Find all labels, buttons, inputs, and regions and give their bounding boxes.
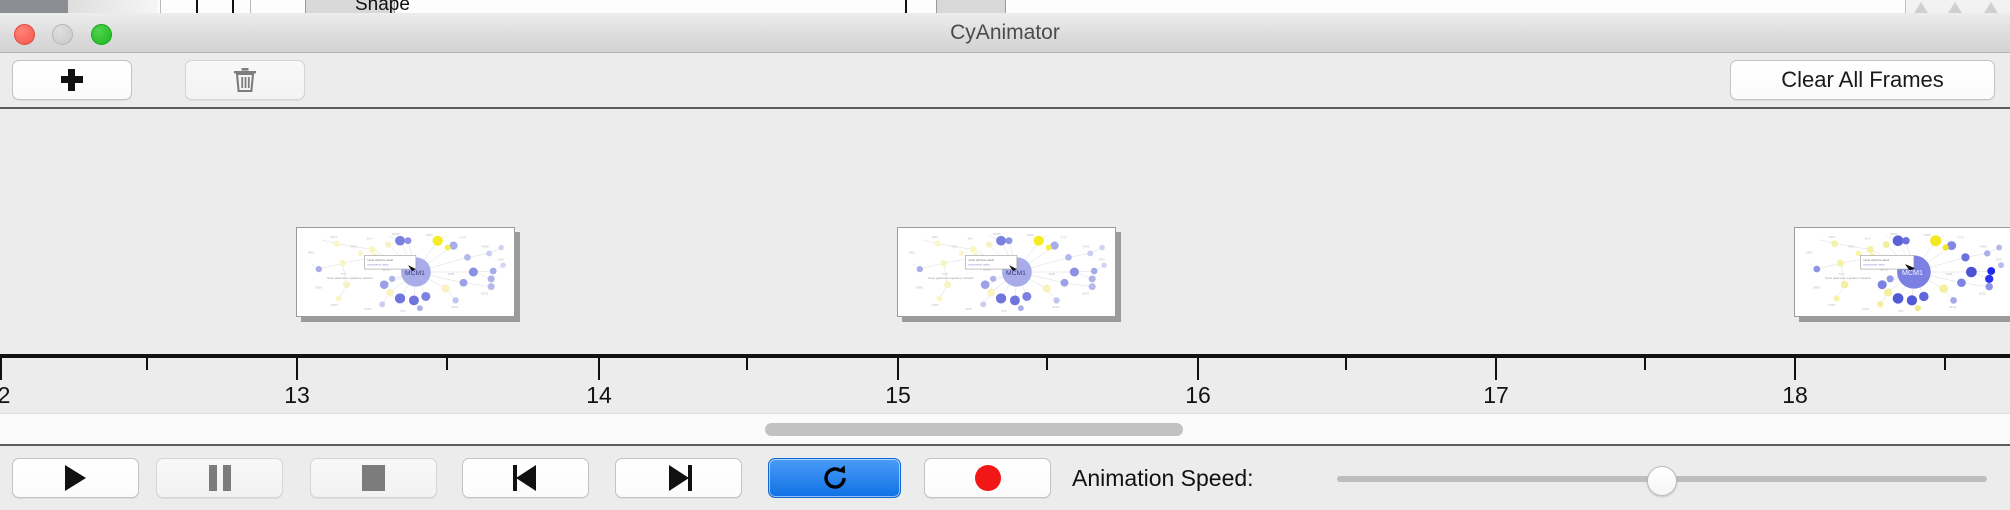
svg-text:YZA9: YZA9 xyxy=(1098,257,1105,261)
plus-icon xyxy=(61,69,83,91)
svg-text:NOP5: NOP5 xyxy=(1829,303,1837,307)
stop-icon xyxy=(362,465,385,491)
delete-frame-button[interactable] xyxy=(185,60,305,100)
background-window-shape-label: Shape xyxy=(355,0,410,13)
svg-text:EFG2: EFG2 xyxy=(1950,305,1957,309)
svg-text:ABC1: ABC1 xyxy=(909,250,916,254)
network-graph-icon: ABC1 DEF2 GHI3 JKL4 MNO5 PQR6 STU7 VWX8 … xyxy=(297,228,514,316)
svg-text:KLM4: KLM4 xyxy=(364,307,371,311)
thumbnail-image: ABC1 DEF2 GHI3 JKL4 MNO5 PQR6 STU7 VWX8 … xyxy=(1794,227,2010,317)
timeline-frame-thumbnail[interactable]: ABC1 DEF2 GHI3 JKL4 MNO5 PQR6 STU7 VWX8 … xyxy=(296,227,520,322)
axis-tick-minor xyxy=(746,358,748,370)
network-center-node-label: MCM1 xyxy=(1902,269,1923,277)
skip-previous-icon xyxy=(513,465,539,491)
background-window-strip: Shape xyxy=(0,0,2010,13)
svg-text:VWX8: VWX8 xyxy=(481,245,489,249)
loop-button[interactable] xyxy=(768,458,901,498)
svg-text:STU7: STU7 xyxy=(460,236,467,240)
timeline-horizontal-scrollbar[interactable] xyxy=(0,413,2010,444)
svg-text:Yeast galactose regulatory net: Yeast galactose regulatory network xyxy=(1825,276,1871,280)
play-button[interactable] xyxy=(12,458,139,498)
record-icon xyxy=(975,465,1001,491)
svg-text:GHI3: GHI3 xyxy=(1849,245,1856,249)
axis-tick-major xyxy=(1495,358,1497,380)
axis-tick-label: 18 xyxy=(1782,382,1808,409)
background-window-cell xyxy=(160,0,191,13)
svg-text:HIJ3: HIJ3 xyxy=(1001,309,1007,313)
svg-text:YZA9: YZA9 xyxy=(1995,257,2002,261)
play-icon xyxy=(65,465,86,491)
svg-text:GHI3: GHI3 xyxy=(351,245,358,249)
animation-speed-label: Animation Speed: xyxy=(1072,458,1254,498)
axis-tick-major xyxy=(1794,358,1796,380)
svg-text:ZAB9: ZAB9 xyxy=(1049,272,1056,276)
axis-tick-major xyxy=(296,358,298,380)
titlebar: CyAnimator xyxy=(0,13,2010,53)
svg-text:QRS6: QRS6 xyxy=(1813,286,1821,290)
svg-text:ZAB9: ZAB9 xyxy=(448,272,455,276)
svg-text:DEF2: DEF2 xyxy=(1829,235,1836,239)
pause-icon xyxy=(209,465,231,491)
svg-text:ZAB9: ZAB9 xyxy=(1946,272,1953,276)
axis-tick-label: 13 xyxy=(284,382,310,409)
clear-all-frames-label: Clear All Frames xyxy=(1781,67,1944,93)
axis-tick-label: 14 xyxy=(586,382,612,409)
svg-text:EFG2: EFG2 xyxy=(1053,305,1060,309)
axis-tick-label: 2 xyxy=(0,382,10,409)
network-center-node-label: MCM1 xyxy=(405,270,425,277)
svg-text:STU7: STU7 xyxy=(1958,236,1965,240)
svg-text:DEF2: DEF2 xyxy=(932,235,939,239)
svg-text:BCD1: BCD1 xyxy=(481,292,488,296)
slider-thumb[interactable] xyxy=(1647,466,1677,496)
svg-text:MNO5: MNO5 xyxy=(993,232,1001,236)
axis-tick-major xyxy=(0,358,2,380)
background-window-gradient xyxy=(68,0,158,13)
svg-text:DEF2: DEF2 xyxy=(331,235,338,239)
playback-controls: Animation Speed: xyxy=(0,446,2010,510)
svg-text:JKL4: JKL4 xyxy=(1864,237,1870,241)
axis-tick-minor xyxy=(1944,358,1946,370)
axis-tick-label: 15 xyxy=(885,382,911,409)
skip-next-icon xyxy=(666,465,692,491)
axis-tick-major xyxy=(1197,358,1199,380)
svg-text:expression value: expression value xyxy=(367,263,389,267)
axis-tick-label: 17 xyxy=(1483,382,1509,409)
svg-text:NOP5: NOP5 xyxy=(932,303,940,307)
trash-icon xyxy=(232,66,258,94)
background-window-sidebar xyxy=(0,0,68,13)
svg-text:KLM4: KLM4 xyxy=(965,307,972,311)
window-title: CyAnimator xyxy=(0,13,2010,53)
svg-text:QRS6: QRS6 xyxy=(315,286,323,290)
loop-icon xyxy=(820,463,850,493)
svg-text:NOP5: NOP5 xyxy=(331,303,339,307)
svg-text:VWX8: VWX8 xyxy=(1082,245,1090,249)
svg-text:VWX8: VWX8 xyxy=(1979,245,1987,249)
network-graph-icon: ABC1 DEF2 GHI3 JKL4 MNO5 PQR6 STU7 VWX8 … xyxy=(898,228,1115,316)
scrollbar-thumb[interactable] xyxy=(765,423,1183,436)
record-button[interactable] xyxy=(924,458,1051,498)
background-window-box xyxy=(936,0,1006,13)
next-frame-button[interactable] xyxy=(615,458,742,498)
svg-text:QRS6: QRS6 xyxy=(916,286,924,290)
axis-tick-minor xyxy=(1644,358,1646,370)
axis-tick-minor xyxy=(1046,358,1048,370)
chevron-up-icon xyxy=(1914,2,1928,13)
pause-button[interactable] xyxy=(156,458,283,498)
svg-text:ABC1: ABC1 xyxy=(308,250,315,254)
axis-tick-major xyxy=(897,358,899,380)
svg-text:Node attribute detail: Node attribute detail xyxy=(367,258,393,262)
timeline-frame-thumbnail[interactable]: ABC1 DEF2 GHI3 JKL4 MNO5 PQR6 STU7 VWX8 … xyxy=(897,227,1121,322)
axis-tick-minor xyxy=(446,358,448,370)
svg-text:STU7: STU7 xyxy=(1061,236,1068,240)
svg-text:PQR6: PQR6 xyxy=(1924,233,1932,237)
axis-tick-label: 16 xyxy=(1185,382,1211,409)
background-window-tick xyxy=(232,0,234,13)
svg-text:HIJ3: HIJ3 xyxy=(1898,309,1904,313)
add-frame-button[interactable] xyxy=(12,60,132,100)
svg-text:Node attribute detail: Node attribute detail xyxy=(1863,258,1889,262)
svg-text:JKL4: JKL4 xyxy=(366,237,372,241)
svg-text:BCD1: BCD1 xyxy=(1979,292,1986,296)
thumbnail-image: ABC1 DEF2 GHI3 JKL4 MNO5 PQR6 STU7 VWX8 … xyxy=(296,227,515,317)
background-window-cell xyxy=(250,0,301,13)
timeline-panel[interactable]: ABC1 DEF2 GHI3 JKL4 MNO5 PQR6 STU7 VWX8 … xyxy=(0,109,2010,413)
svg-text:Node attribute detail: Node attribute detail xyxy=(968,258,994,262)
svg-text:EFG2: EFG2 xyxy=(452,305,459,309)
background-window-tick xyxy=(196,0,198,13)
timeline-axis xyxy=(0,354,2010,358)
network-graph-icon: ABC1 DEF2 GHI3 JKL4 MNO5 PQR6 STU7 VWX8 … xyxy=(1795,228,2010,316)
axis-tick-minor xyxy=(1345,358,1347,370)
svg-text:MNO5: MNO5 xyxy=(1890,232,1898,236)
svg-text:YZA9: YZA9 xyxy=(497,257,504,261)
svg-text:KLM4: KLM4 xyxy=(1862,307,1869,311)
chevron-up-icon xyxy=(1948,2,1962,13)
previous-frame-button[interactable] xyxy=(462,458,589,498)
timeline-frame-thumbnail[interactable]: ABC1 DEF2 GHI3 JKL4 MNO5 PQR6 STU7 VWX8 … xyxy=(1794,227,2010,322)
toolbar: Clear All Frames xyxy=(0,53,2010,108)
svg-text:MNO5: MNO5 xyxy=(392,232,400,236)
svg-text:BCD1: BCD1 xyxy=(1082,292,1089,296)
svg-text:PQR6: PQR6 xyxy=(426,233,434,237)
network-center-node-label: MCM1 xyxy=(1006,270,1026,277)
animation-speed-slider[interactable] xyxy=(1337,458,1987,498)
svg-text:expression value: expression value xyxy=(968,263,990,267)
chevron-up-icon xyxy=(1984,2,1998,13)
svg-text:Yeast galactose regulatory net: Yeast galactose regulatory network xyxy=(327,276,373,280)
cyanimator-window: Shape CyAnimator Clear Al xyxy=(0,0,2010,510)
clear-all-frames-button[interactable]: Clear All Frames xyxy=(1730,60,1995,100)
svg-text:ABC1: ABC1 xyxy=(1806,250,1813,254)
svg-text:HIJ3: HIJ3 xyxy=(400,309,406,313)
svg-text:JKL4: JKL4 xyxy=(967,237,973,241)
svg-text:expression value: expression value xyxy=(1863,263,1885,267)
axis-tick-major xyxy=(598,358,600,380)
svg-text:Yeast galactose regulatory net: Yeast galactose regulatory network xyxy=(928,276,974,280)
svg-text:GHI3: GHI3 xyxy=(952,245,959,249)
stop-button[interactable] xyxy=(310,458,437,498)
thumbnail-image: ABC1 DEF2 GHI3 JKL4 MNO5 PQR6 STU7 VWX8 … xyxy=(897,227,1116,317)
background-window-tick xyxy=(905,0,907,13)
axis-tick-minor xyxy=(146,358,148,370)
svg-text:PQR6: PQR6 xyxy=(1027,233,1035,237)
